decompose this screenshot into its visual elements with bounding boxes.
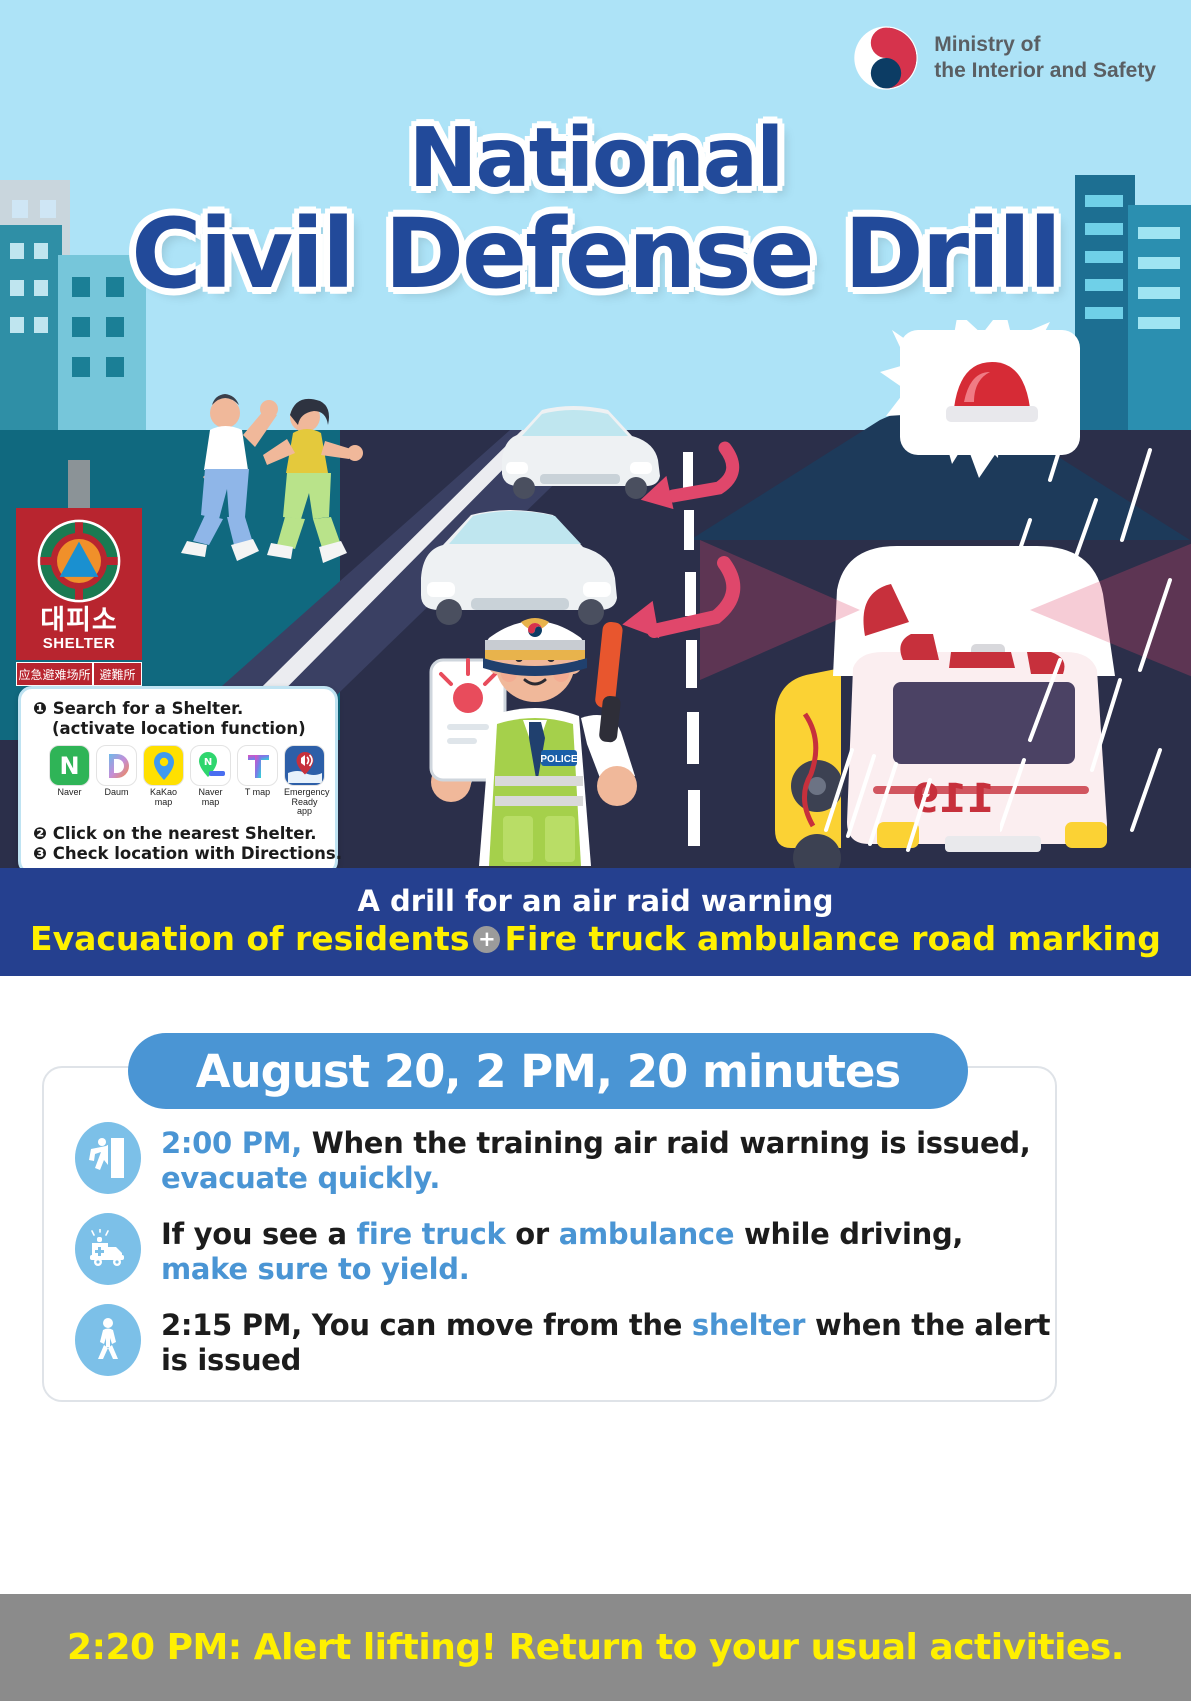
hero-illustration: Ministry of the Interior and Safety Nati… [0, 0, 1191, 950]
speed-lines-left [812, 740, 952, 870]
schedule-row-2-text: If you see a fire truck or ambulance whi… [161, 1213, 1055, 1288]
row-3-part-0: 2:15 PM, You can move from the [161, 1308, 692, 1342]
title-line-1: National [0, 118, 1191, 200]
civil-defense-emblem-icon [35, 517, 123, 605]
row-2-part-1: fire truck [357, 1217, 506, 1251]
shelter-sign-subtexts: 应急避难场所 避難所 [16, 662, 142, 686]
shelter-sign-chinese-traditional: 避難所 [93, 662, 142, 686]
exit-door-icon [75, 1122, 141, 1194]
map-app-list: N Naver Daum [49, 745, 323, 816]
app-item-navermap[interactable]: N Naver map [190, 745, 231, 816]
row-1-part-2: evacuate quickly. [161, 1161, 440, 1195]
schedule-row-2: If you see a fire truck or ambulance whi… [75, 1213, 1055, 1288]
date-pill-label: August 20, 2 PM, 20 minutes [196, 1045, 900, 1098]
app-label: Emergency Ready app [284, 788, 325, 816]
schedule-rows: 2:00 PM, When the training air raid warn… [75, 1122, 1055, 1394]
daum-app-icon [96, 745, 137, 786]
alert-lifting-footer: 2:20 PM: Alert lifting! Return to your u… [0, 1594, 1191, 1701]
title-line-2: Civil Defense Drill [0, 206, 1191, 302]
shelter-sign-english: SHELTER [43, 636, 115, 651]
shelter-sign-korean: 대피소 [40, 607, 118, 634]
running-people-illustration [165, 385, 395, 565]
app-item-kakaomap[interactable]: KaKao map [143, 745, 184, 816]
app-item-tmap[interactable]: T map [237, 745, 278, 816]
poster-title: National Civil Defense Drill [0, 118, 1191, 302]
row-2-part-3: ambulance [559, 1217, 735, 1251]
naver-app-icon: N [49, 745, 90, 786]
lane-dash [687, 712, 699, 764]
app-label: KaKao map [143, 788, 184, 807]
svg-text:N: N [203, 757, 211, 768]
banner-line-2-part-b: Fire truck ambulance road marking [504, 921, 1160, 957]
shelter-search-callout: ❶ Search for a Shelter. (activate locati… [18, 686, 338, 875]
drill-summary-banner: A drill for an air raid warning Evacuati… [0, 868, 1191, 976]
schedule-row-1-text: 2:00 PM, When the training air raid warn… [161, 1122, 1055, 1197]
callout-step-1-line-2: (activate location function) [33, 719, 323, 739]
pedestrian-crossing-icon [75, 1304, 141, 1376]
schedule-row-3: 2:15 PM, You can move from the shelter w… [75, 1304, 1055, 1379]
taegeuk-logo-icon [853, 25, 919, 91]
footer-text: 2:20 PM: Alert lifting! Return to your u… [67, 1627, 1124, 1668]
shelter-sign-plate: 대피소 SHELTER [16, 508, 142, 660]
ministry-line-2: the Interior and Safety [934, 58, 1156, 84]
navermap-app-icon: N [190, 745, 231, 786]
kakaomap-app-icon [143, 745, 184, 786]
callout-step-3: ❸ Check location with Directions. [33, 844, 323, 864]
app-item-naver[interactable]: N Naver [49, 745, 90, 816]
police-officer-illustration: POLICE [385, 600, 685, 875]
row-2-part-2: or [505, 1217, 558, 1251]
lane-dash [688, 790, 700, 846]
ministry-logo-block: Ministry of the Interior and Safety [853, 25, 1156, 91]
poster-root: Ministry of the Interior and Safety Nati… [0, 0, 1191, 1701]
ministry-line-1: Ministry of [934, 32, 1156, 58]
lane-dash [684, 510, 694, 550]
siren-lamp-icon [940, 352, 1044, 438]
app-item-daum[interactable]: Daum [96, 745, 137, 816]
row-2-part-0: If you see a [161, 1217, 357, 1251]
row-3-part-1: shelter [692, 1308, 805, 1342]
app-item-emergency-ready[interactable]: Emergency Ready app [284, 745, 325, 816]
svg-text:POLICE: POLICE [540, 754, 578, 765]
schedule-row-3-text: 2:15 PM, You can move from the shelter w… [161, 1304, 1055, 1379]
emergency-ready-app-icon [284, 745, 325, 786]
siren-bubble-tail [965, 440, 1005, 478]
banner-line-2-part-a: Evacuation of residents [30, 921, 469, 957]
app-label: Naver [49, 788, 90, 797]
banner-line-1: A drill for an air raid warning [358, 886, 834, 918]
banner-line-2: Evacuation of residents + Fire truck amb… [30, 921, 1161, 957]
row-1-part-0: 2:00 PM, [161, 1126, 302, 1160]
plus-icon: + [473, 926, 500, 953]
tmap-app-icon [237, 745, 278, 786]
row-2-part-5: make sure to yield. [161, 1252, 469, 1286]
app-label: Daum [96, 788, 137, 797]
ministry-name: Ministry of the Interior and Safety [934, 32, 1156, 85]
schedule-row-1: 2:00 PM, When the training air raid warn… [75, 1122, 1055, 1197]
ambulance-icon [75, 1213, 141, 1285]
callout-step-2: ❷ Click on the nearest Shelter. [33, 824, 323, 844]
app-label: T map [237, 788, 278, 797]
app-label: Naver map [190, 788, 231, 807]
date-pill: August 20, 2 PM, 20 minutes [128, 1033, 968, 1109]
callout-step-1-line-1: ❶ Search for a Shelter. [33, 699, 323, 719]
row-1-part-1: When the training air raid warning is is… [302, 1126, 1031, 1160]
shelter-sign-chinese-simplified: 应急避难场所 [16, 662, 93, 686]
row-2-part-4: while driving, [734, 1217, 963, 1251]
